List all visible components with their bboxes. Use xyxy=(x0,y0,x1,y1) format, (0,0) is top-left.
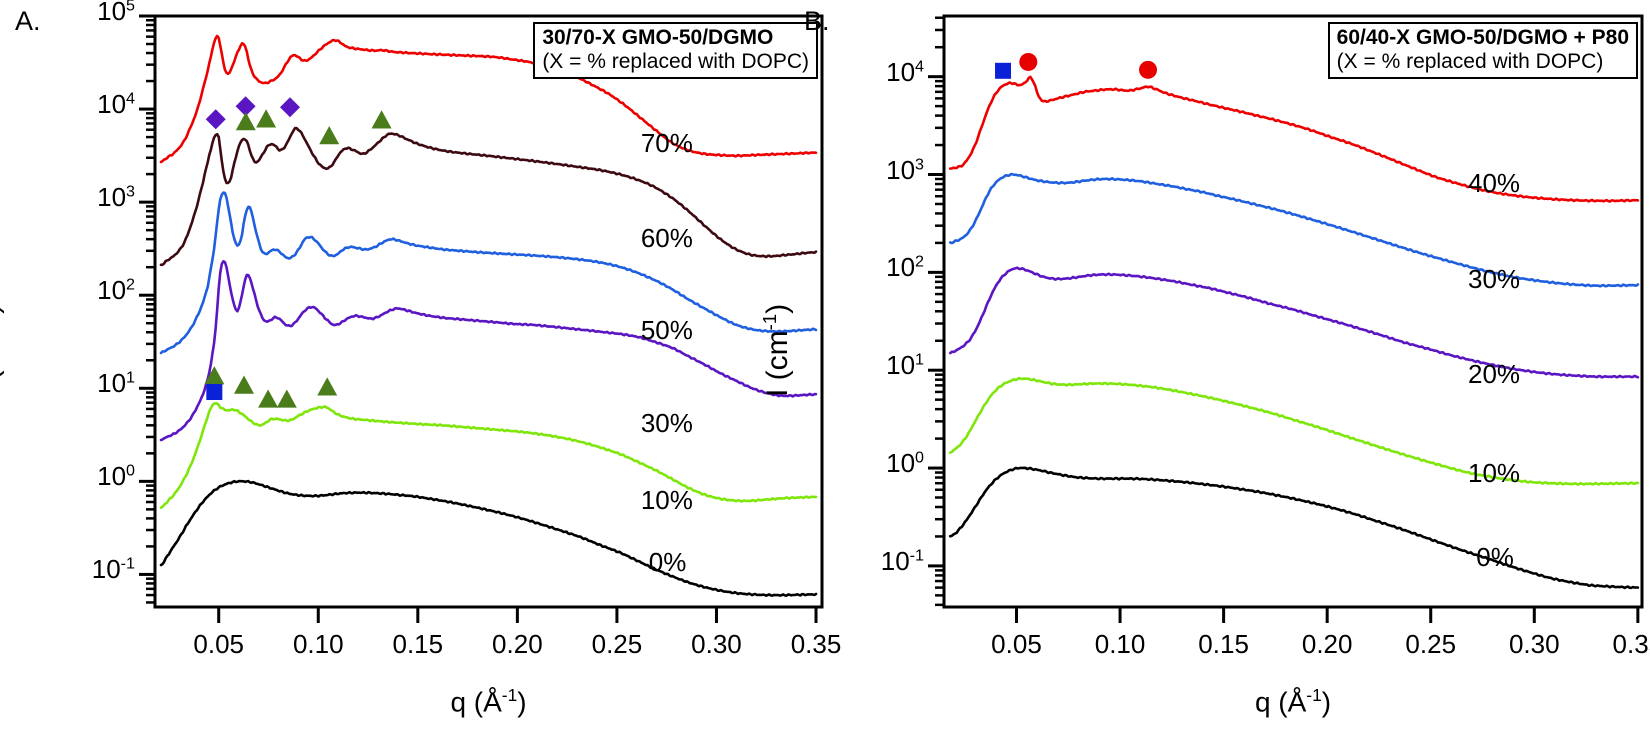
panel-letter-B: B. xyxy=(804,6,830,37)
saxs-figure: A.10510410310210110010-10.050.100.150.20… xyxy=(0,0,1650,742)
ytick-mantissa: 10 xyxy=(886,448,915,478)
y-axis-label-text: I (cm xyxy=(761,330,794,397)
y-tick-label-B-1: 101 xyxy=(814,350,924,381)
ytick-exponent: -1 xyxy=(910,546,924,564)
curve-label-B-4: 0% xyxy=(1476,542,1514,573)
y-axis-label-B: I (cm-1) xyxy=(759,303,795,396)
legend-box-B: 60/40-X GMO-50/DGMO + P80(X = % replaced… xyxy=(1328,22,1638,79)
ytick-exponent: 0 xyxy=(915,448,924,466)
ytick-mantissa: 10 xyxy=(886,350,915,380)
curve-B-30pct xyxy=(950,174,1638,286)
curve-B-40pct xyxy=(950,77,1638,202)
legend-line1-B: 60/40-X GMO-50/DGMO + P80 xyxy=(1337,26,1629,50)
curve-B-10pct xyxy=(950,378,1638,484)
x-tick-label-B-4: 0.25 xyxy=(1381,629,1481,660)
panel-B: B.10410310210110010-10.050.100.150.200.2… xyxy=(0,0,1650,742)
y-axis-exponent: -1 xyxy=(759,313,780,330)
ytick-mantissa: 10 xyxy=(886,57,915,87)
y-axis-label-tail: ) xyxy=(761,303,794,313)
ytick-mantissa: 10 xyxy=(886,155,915,185)
y-tick-label-B--1: 10-1 xyxy=(814,546,924,577)
ytick-mantissa: 10 xyxy=(886,252,915,282)
curve-B-0pct xyxy=(950,468,1638,588)
curve-label-B-2: 20% xyxy=(1468,359,1520,390)
y-tick-label-B-4: 104 xyxy=(814,57,924,88)
curve-label-B-0: 40% xyxy=(1468,168,1520,199)
ytick-exponent: 2 xyxy=(915,253,924,271)
axis-frame-B xyxy=(944,16,1642,607)
marker-square-B-0 xyxy=(995,63,1011,79)
legend-line2-B: (X = % replaced with DOPC) xyxy=(1337,50,1629,74)
x-tick-label-B-2: 0.15 xyxy=(1174,629,1274,660)
y-tick-label-B-0: 100 xyxy=(814,448,924,479)
x-tick-label-B-1: 0.10 xyxy=(1070,629,1170,660)
y-tick-label-B-3: 103 xyxy=(814,155,924,186)
curve-label-B-3: 10% xyxy=(1468,458,1520,489)
ytick-mantissa: 10 xyxy=(881,546,910,576)
x-axis-label-tail: ) xyxy=(1322,686,1331,717)
x-axis-label-text: q (Å xyxy=(1255,686,1306,717)
curve-label-B-1: 30% xyxy=(1468,264,1520,295)
x-tick-label-B-0: 0.05 xyxy=(966,629,1066,660)
x-tick-label-B-5: 0.30 xyxy=(1484,629,1584,660)
marker-circle-B-2 xyxy=(1139,61,1157,79)
x-axis-exponent: -1 xyxy=(1306,685,1321,705)
y-tick-label-B-2: 102 xyxy=(814,252,924,283)
x-tick-label-B-6: 0.35 xyxy=(1588,629,1650,660)
x-axis-label-B: q (Å-1) xyxy=(1143,685,1443,718)
ytick-exponent: 4 xyxy=(915,57,924,75)
curve-B-20pct xyxy=(950,268,1638,378)
ytick-exponent: 3 xyxy=(915,155,924,173)
marker-circle-B-1 xyxy=(1019,53,1037,71)
ytick-exponent: 1 xyxy=(915,351,924,369)
x-tick-label-B-3: 0.20 xyxy=(1277,629,1377,660)
